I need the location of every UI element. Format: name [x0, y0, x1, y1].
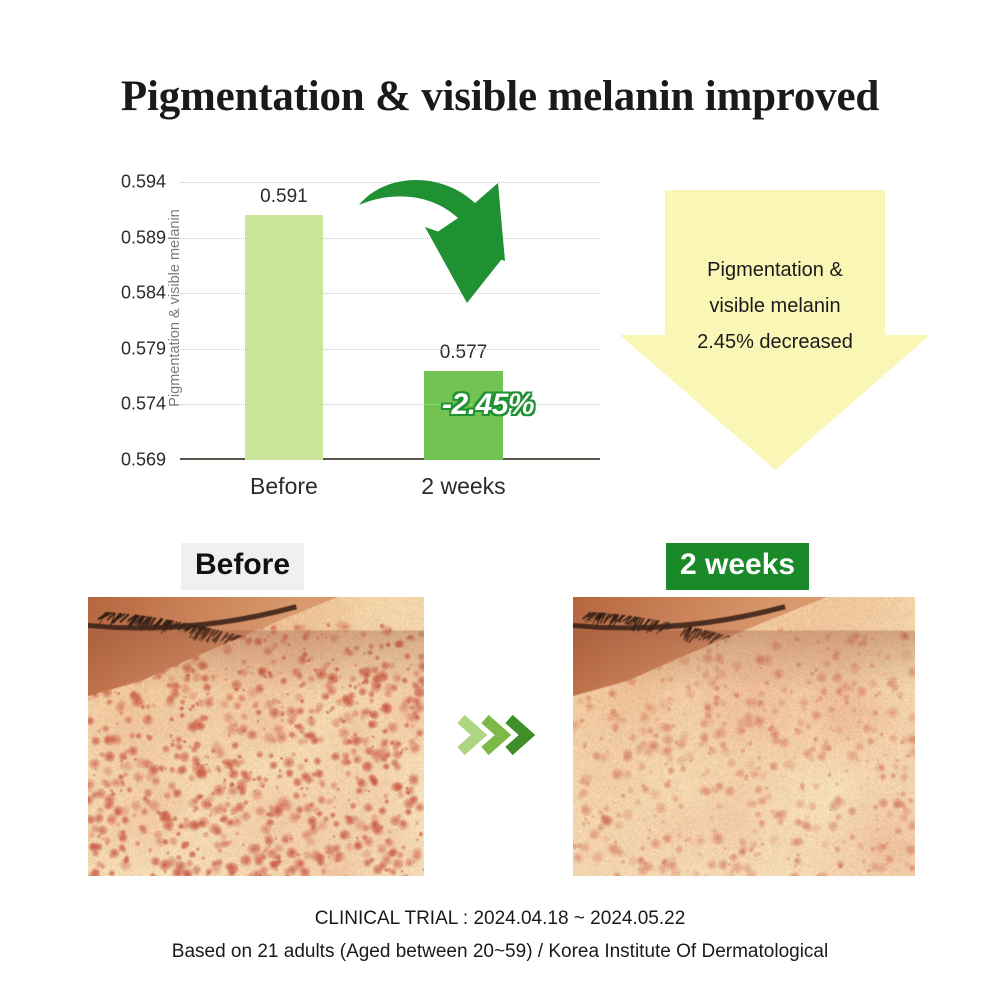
photo-tag-before: Before: [181, 543, 304, 590]
photo-before: [88, 597, 424, 876]
footer-line-trial: CLINICAL TRIAL : 2024.04.18 ~ 2024.05.22: [0, 902, 1000, 935]
gridline: [180, 349, 600, 350]
y-tick-label: 0.569: [121, 450, 166, 471]
callout-line-3: 2.45% decreased: [620, 324, 930, 360]
bar-before[interactable]: 0.591 Before: [245, 215, 323, 460]
y-tick-label: 0.589: [121, 227, 166, 248]
skin-image-before: [88, 597, 424, 876]
bar-value-before: 0.591: [260, 186, 308, 208]
skin-image-2-weeks: [573, 597, 915, 876]
delta-percentage-label: -2.45%: [442, 388, 534, 422]
x-tick-before: Before: [250, 473, 318, 500]
y-tick-label: 0.579: [121, 338, 166, 359]
gridline: [180, 293, 600, 294]
callout-text: Pigmentation & visible melanin 2.45% dec…: [620, 252, 930, 360]
bar-value-2-weeks: 0.577: [440, 342, 488, 364]
page-title: Pigmentation & visible melanin improved: [0, 72, 1000, 121]
y-tick-label: 0.574: [121, 394, 166, 415]
y-tick-label: 0.594: [121, 172, 166, 193]
photo-tag-2-weeks: 2 weeks: [666, 543, 809, 590]
footer: CLINICAL TRIAL : 2024.04.18 ~ 2024.05.22…: [0, 902, 1000, 968]
callout-line-2: visible melanin: [620, 288, 930, 324]
summary-callout: Pigmentation & visible melanin 2.45% dec…: [620, 190, 930, 470]
chart-plot-area: 0.591 Before 0.577 2 weeks 0.5940.5890.5…: [180, 182, 600, 460]
gridline: [180, 238, 600, 239]
footer-line-basis: Based on 21 adults (Aged between 20~59) …: [0, 935, 1000, 968]
gridline: [180, 404, 600, 405]
triple-chevron-right-icon: [455, 705, 545, 765]
x-tick-2-weeks: 2 weeks: [421, 473, 505, 500]
x-axis-line: [180, 458, 600, 460]
y-tick-label: 0.584: [121, 283, 166, 304]
bar-chart: Pigmentation & visible melanin 0.591 Bef…: [70, 170, 630, 500]
gridline: [180, 182, 600, 183]
callout-line-1: Pigmentation &: [620, 252, 930, 288]
photo-2-weeks: [573, 597, 915, 876]
